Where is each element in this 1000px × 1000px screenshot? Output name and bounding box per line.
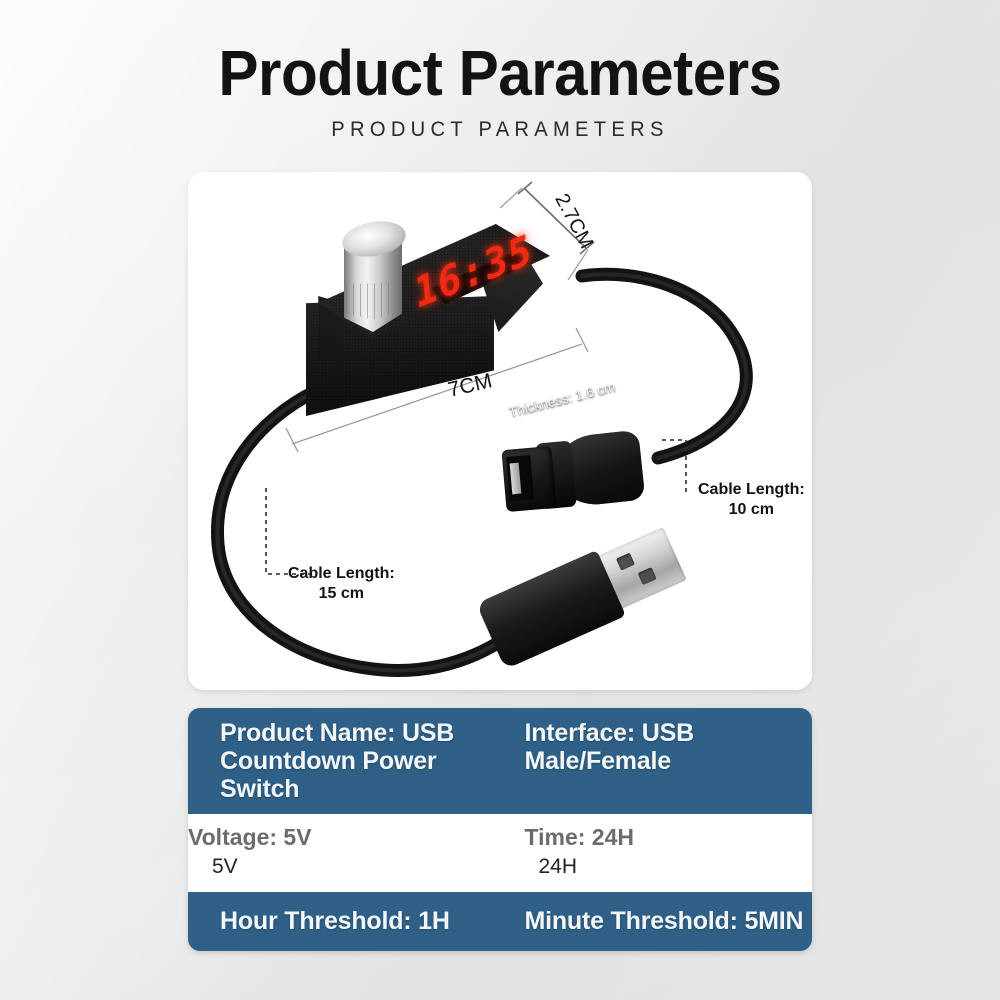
cable-length-10cm-line2: 10 cm: [698, 500, 805, 520]
spec-row-thresholds: Hour Threshold: 1H Minute Threshold: 5MI…: [188, 892, 812, 951]
usb-male-shell: [476, 550, 626, 669]
cable-length-10cm-label: Cable Length: 10 cm: [698, 480, 805, 520]
spec-cell-time: Time: 24H 24H: [512, 822, 812, 882]
spec-cell-minute-threshold: Minute Threshold: 5MIN: [512, 907, 812, 935]
leader-cable-15cm: [266, 488, 314, 574]
spec-hour-threshold: Hour Threshold: 1H: [220, 907, 504, 935]
page-title: Product Parameters: [30, 38, 970, 108]
cable-length-15cm-label: Cable Length: 15 cm: [288, 564, 395, 604]
spec-product-name: Product Name: USB Countdown Power Switch: [220, 719, 506, 803]
spec-time-label: Time: 24H: [524, 822, 804, 852]
product-photo: 16:35 Thickness: 1.6 cm: [188, 172, 812, 690]
dimension-ext-depth-a: [500, 188, 522, 208]
spec-cell-product-name: Product Name: USB Countdown Power Switch: [188, 719, 512, 803]
page-header: Product Parameters PRODUCT PARAMETERS: [0, 38, 1000, 142]
spec-row-voltage-time: Voltage: 5V 5V Time: 24H 24H: [188, 814, 812, 892]
spec-interface: Interface: USB Male/Female: [524, 719, 804, 775]
countdown-timer-device: 16:35 Thickness: 1.6 cm: [292, 224, 582, 454]
spec-table: Product Name: USB Countdown Power Switch…: [188, 708, 812, 951]
spec-row-product-interface: Product Name: USB Countdown Power Switch…: [188, 708, 812, 814]
dimension-tick-depth-start: [518, 182, 532, 194]
spec-cell-voltage: Voltage: 5V 5V: [188, 822, 512, 882]
page-subtitle: PRODUCT PARAMETERS: [20, 118, 980, 142]
product-photo-card: 16:35 Thickness: 1.6 cm: [188, 172, 812, 690]
spec-voltage-label: Voltage: 5V: [188, 822, 504, 852]
cable-length-10cm-line1: Cable Length:: [698, 480, 805, 500]
product-parameters-page: Product Parameters PRODUCT PARAMETERS: [0, 0, 1000, 1000]
spec-cell-interface: Interface: USB Male/Female: [512, 719, 812, 803]
cable-length-15cm-line2: 15 cm: [288, 584, 395, 604]
spec-cell-hour-threshold: Hour Threshold: 1H: [188, 907, 512, 935]
spec-minute-threshold: Minute Threshold: 5MIN: [524, 907, 804, 935]
spec-voltage-value: 5V: [188, 852, 504, 882]
cable-length-15cm-line1: Cable Length:: [288, 564, 395, 584]
spec-time-value: 24H: [524, 852, 804, 882]
